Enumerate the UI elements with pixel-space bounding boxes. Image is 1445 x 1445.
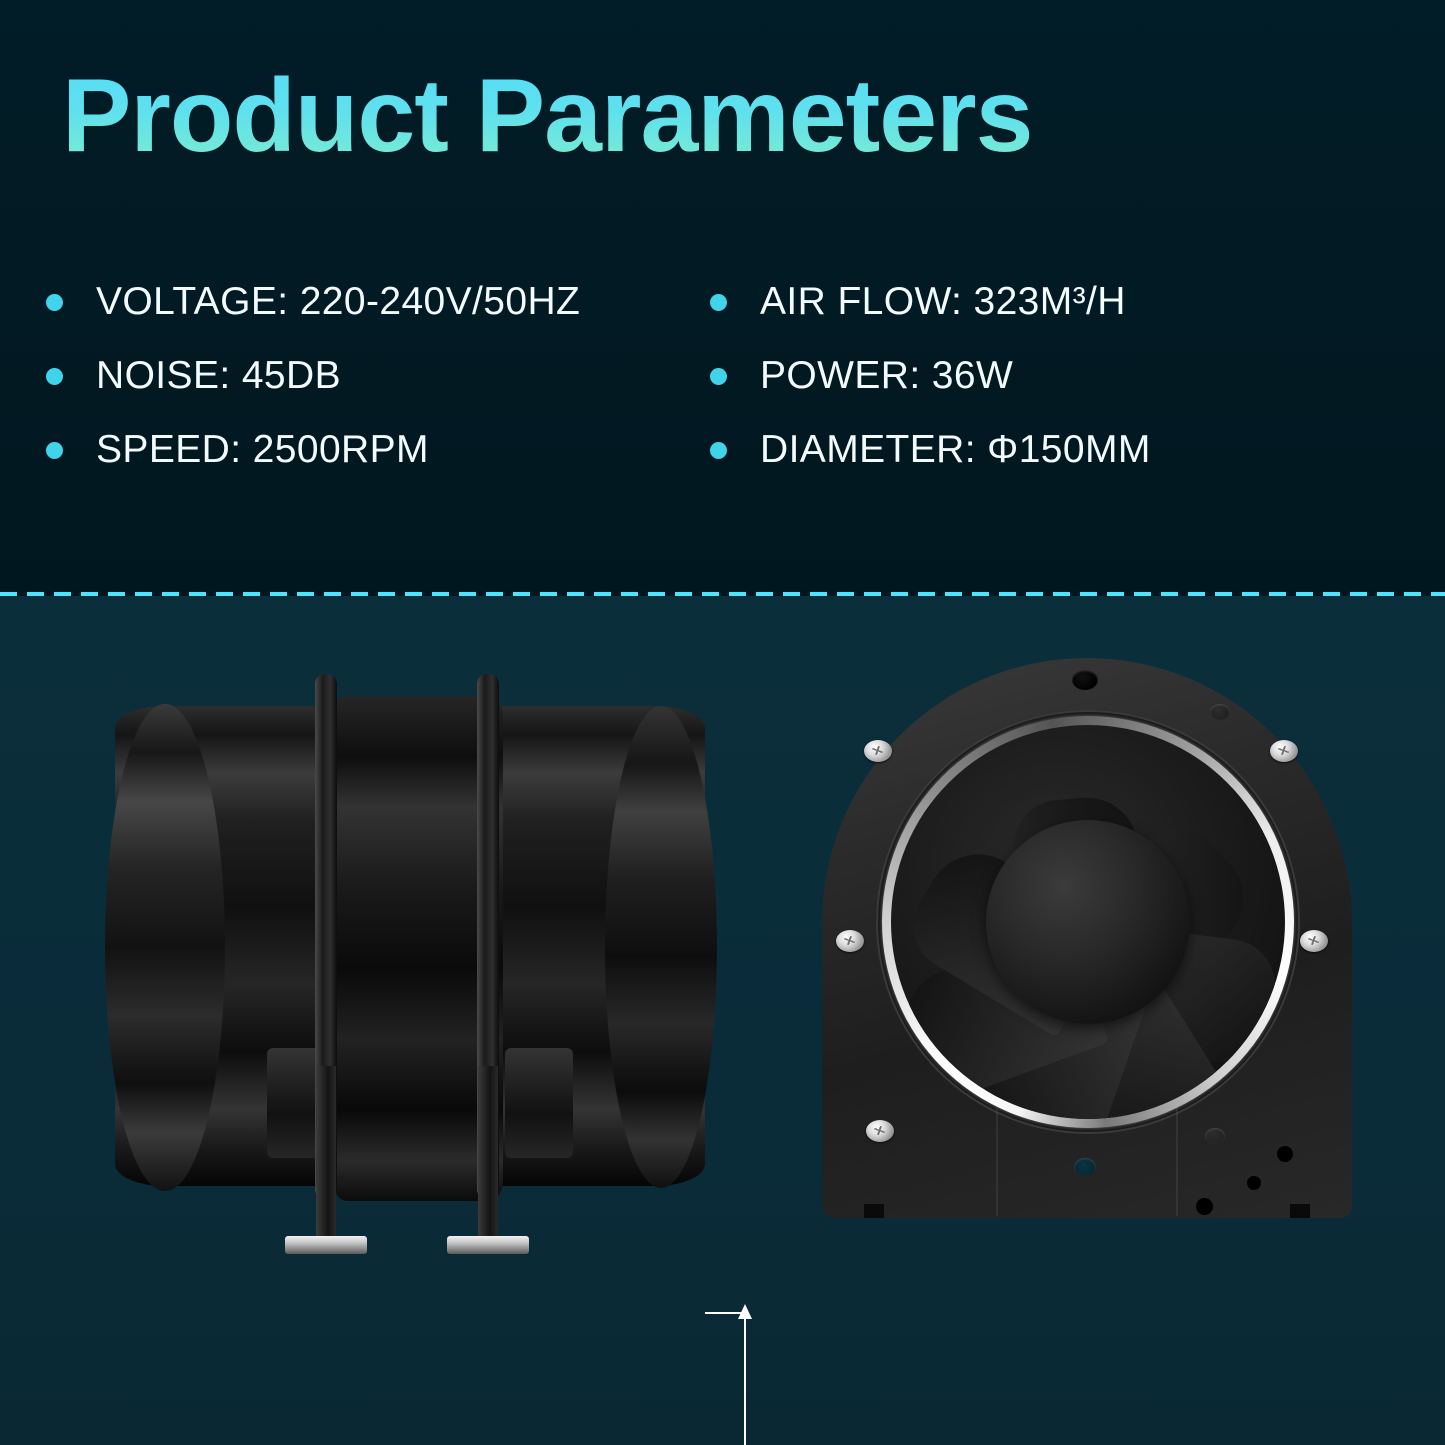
- housing-panel-seam: [1176, 1108, 1178, 1216]
- product-images-section: 145mm 84mm 200mm: [0, 596, 1445, 1445]
- spec-item-power: POWER: 36W: [710, 339, 1350, 413]
- screw-bottom-left: [866, 1120, 894, 1142]
- mounting-tab-right: [1290, 1204, 1310, 1218]
- screw-top-right: [1270, 740, 1298, 762]
- spec-label-noise: NOISE: 45DB: [96, 354, 341, 398]
- spec-item-voltage: VOLTAGE: 220-240V/50HZ: [46, 265, 686, 339]
- product-parameters-page: Product Parameters VOLTAGE: 220-240V/50H…: [0, 0, 1445, 1445]
- fan-opening: [891, 725, 1285, 1119]
- support-leg-right: [478, 1066, 498, 1246]
- bullet-icon: [46, 368, 63, 385]
- product-front-view: [822, 658, 1362, 1258]
- duct-left-end: [105, 704, 225, 1191]
- mounting-hole-bottom: [1074, 1158, 1096, 1176]
- spec-item-speed: SPEED: 2500RPM: [46, 413, 686, 487]
- dimension-145mm-arrow-top: [738, 1304, 752, 1319]
- mounting-hole-bottom-right: [1205, 1128, 1225, 1144]
- spec-label-diameter: DIAMETER: Φ150MM: [760, 428, 1151, 472]
- mounting-bracket-right: [505, 1048, 573, 1158]
- screw-middle-left: [836, 930, 864, 952]
- vent-dot: [1277, 1146, 1293, 1162]
- duct-right-end: [605, 706, 717, 1188]
- vent-dot: [1196, 1198, 1213, 1215]
- dimension-145mm-line: [744, 1318, 746, 1445]
- screw-top-left: [864, 740, 892, 762]
- bullet-icon: [46, 294, 63, 311]
- spec-label-power: POWER: 36W: [760, 354, 1013, 398]
- bullet-icon: [710, 368, 727, 385]
- mounting-hole-top: [1072, 670, 1098, 690]
- fan-hub: [986, 820, 1190, 1024]
- support-foot-left: [285, 1236, 367, 1254]
- mounting-hole-top-right: [1210, 704, 1230, 720]
- spec-label-speed: SPEED: 2500RPM: [96, 428, 429, 472]
- spec-label-air-flow: AIR FLOW: 323M³/H: [760, 280, 1126, 324]
- bullet-icon: [710, 294, 727, 311]
- bullet-icon: [710, 442, 727, 459]
- specifications-grid: VOLTAGE: 220-240V/50HZ AIR FLOW: 323M³/H…: [46, 265, 1386, 487]
- specifications-section: Product Parameters VOLTAGE: 220-240V/50H…: [0, 0, 1445, 596]
- mounting-tab-left: [864, 1204, 884, 1218]
- support-leg-left: [316, 1066, 336, 1246]
- housing-panel-seam: [996, 1108, 998, 1216]
- spec-item-diameter: DIAMETER: Φ150MM: [710, 413, 1350, 487]
- vent-dot: [1247, 1176, 1261, 1190]
- spec-item-noise: NOISE: 45DB: [46, 339, 686, 413]
- spec-label-voltage: VOLTAGE: 220-240V/50HZ: [96, 280, 580, 324]
- page-title: Product Parameters: [62, 60, 1032, 172]
- spec-item-air-flow: AIR FLOW: 323M³/H: [710, 265, 1350, 339]
- support-foot-right: [447, 1236, 529, 1254]
- product-side-view: [105, 666, 725, 1266]
- screw-middle-right: [1300, 930, 1328, 952]
- bullet-icon: [46, 442, 63, 459]
